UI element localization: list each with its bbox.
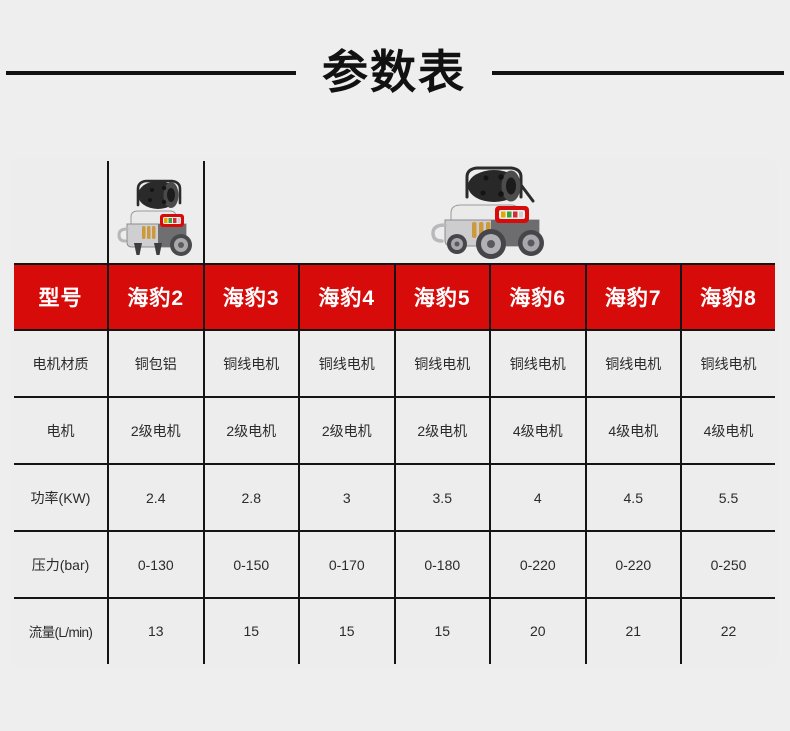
cell-motor-material-haibao3: 铜线电机 [204, 330, 300, 397]
cell-motor-haibao7: 4级电机 [586, 397, 682, 464]
pressure-washer-small-icon [109, 161, 203, 263]
cell-flow-haibao7: 21 [586, 598, 682, 665]
cell-flow-haibao6: 20 [490, 598, 586, 665]
cell-motor-material-haibao7: 铜线电机 [586, 330, 682, 397]
cell-pressure-haibao7: 0-220 [586, 531, 682, 598]
table-row-motor: 电机 2级电机 2级电机 2级电机 2级电机 4级电机 4级电机 4级电机 [13, 397, 777, 464]
spec-table-container: 型号 海豹2 海豹3 海豹4 海豹5 海豹6 海豹7 海豹8 电机材质 铜包铝 … [11, 158, 778, 665]
cell-motor-haibao3: 2级电机 [204, 397, 300, 464]
row-label-flow: 流量(L/min) [13, 598, 109, 665]
cell-motor-haibao6: 4级电机 [490, 397, 586, 464]
header-cell-haibao7: 海豹7 [586, 264, 682, 330]
cell-pressure-haibao3: 0-150 [204, 531, 300, 598]
cell-motor-material-haibao4: 铜线电机 [299, 330, 395, 397]
row-label-power: 功率(KW) [13, 464, 109, 531]
header-cell-haibao3: 海豹3 [204, 264, 300, 330]
cell-power-haibao8: 5.5 [681, 464, 777, 531]
cell-pressure-haibao6: 0-220 [490, 531, 586, 598]
header-cell-haibao5: 海豹5 [395, 264, 491, 330]
spec-table: 型号 海豹2 海豹3 海豹4 海豹5 海豹6 海豹7 海豹8 电机材质 铜包铝 … [11, 158, 778, 667]
cell-motor-haibao4: 2级电机 [299, 397, 395, 464]
pressure-washer-large-icon [205, 161, 776, 263]
page-title: 参数表 [296, 49, 492, 95]
header-cell-haibao2: 海豹2 [108, 264, 204, 330]
cell-motor-material-haibao8: 铜线电机 [681, 330, 777, 397]
header-cell-haibao8: 海豹8 [681, 264, 777, 330]
cell-pressure-haibao2: 0-130 [108, 531, 204, 598]
page-title-block: 参数表 [0, 0, 790, 145]
product-image-cell-large [204, 160, 777, 265]
header-cell-haibao4: 海豹4 [299, 264, 395, 330]
cell-motor-material-haibao5: 铜线电机 [395, 330, 491, 397]
header-cell-haibao6: 海豹6 [490, 264, 586, 330]
cell-flow-haibao4: 15 [299, 598, 395, 665]
row-label-motor: 电机 [13, 397, 109, 464]
cell-motor-material-haibao6: 铜线电机 [490, 330, 586, 397]
cell-motor-haibao8: 4级电机 [681, 397, 777, 464]
product-image-cell-small [108, 160, 204, 265]
cell-power-haibao4: 3 [299, 464, 395, 531]
title-rule-left [6, 71, 296, 75]
cell-pressure-haibao5: 0-180 [395, 531, 491, 598]
cell-power-haibao3: 2.8 [204, 464, 300, 531]
table-row-pressure: 压力(bar) 0-130 0-150 0-170 0-180 0-220 0-… [13, 531, 777, 598]
title-rule-right [492, 71, 784, 75]
cell-power-haibao5: 3.5 [395, 464, 491, 531]
cell-pressure-haibao8: 0-250 [681, 531, 777, 598]
cell-flow-haibao5: 15 [395, 598, 491, 665]
cell-flow-haibao2: 13 [108, 598, 204, 665]
cell-power-haibao7: 4.5 [586, 464, 682, 531]
product-image-empty-cell [13, 160, 109, 265]
cell-flow-haibao8: 22 [681, 598, 777, 665]
row-label-pressure: 压力(bar) [13, 531, 109, 598]
table-row-product-images [13, 160, 777, 265]
header-cell-model: 型号 [13, 264, 109, 330]
cell-motor-haibao2: 2级电机 [108, 397, 204, 464]
cell-motor-haibao5: 2级电机 [395, 397, 491, 464]
table-row-power: 功率(KW) 2.4 2.8 3 3.5 4 4.5 5.5 [13, 464, 777, 531]
table-row-header: 型号 海豹2 海豹3 海豹4 海豹5 海豹6 海豹7 海豹8 [13, 264, 777, 330]
cell-power-haibao2: 2.4 [108, 464, 204, 531]
cell-motor-material-haibao2: 铜包铝 [108, 330, 204, 397]
row-label-motor-material: 电机材质 [13, 330, 109, 397]
cell-pressure-haibao4: 0-170 [299, 531, 395, 598]
cell-flow-haibao3: 15 [204, 598, 300, 665]
table-row-motor-material: 电机材质 铜包铝 铜线电机 铜线电机 铜线电机 铜线电机 铜线电机 铜线电机 [13, 330, 777, 397]
table-row-flow: 流量(L/min) 13 15 15 15 20 21 22 [13, 598, 777, 665]
cell-power-haibao6: 4 [490, 464, 586, 531]
